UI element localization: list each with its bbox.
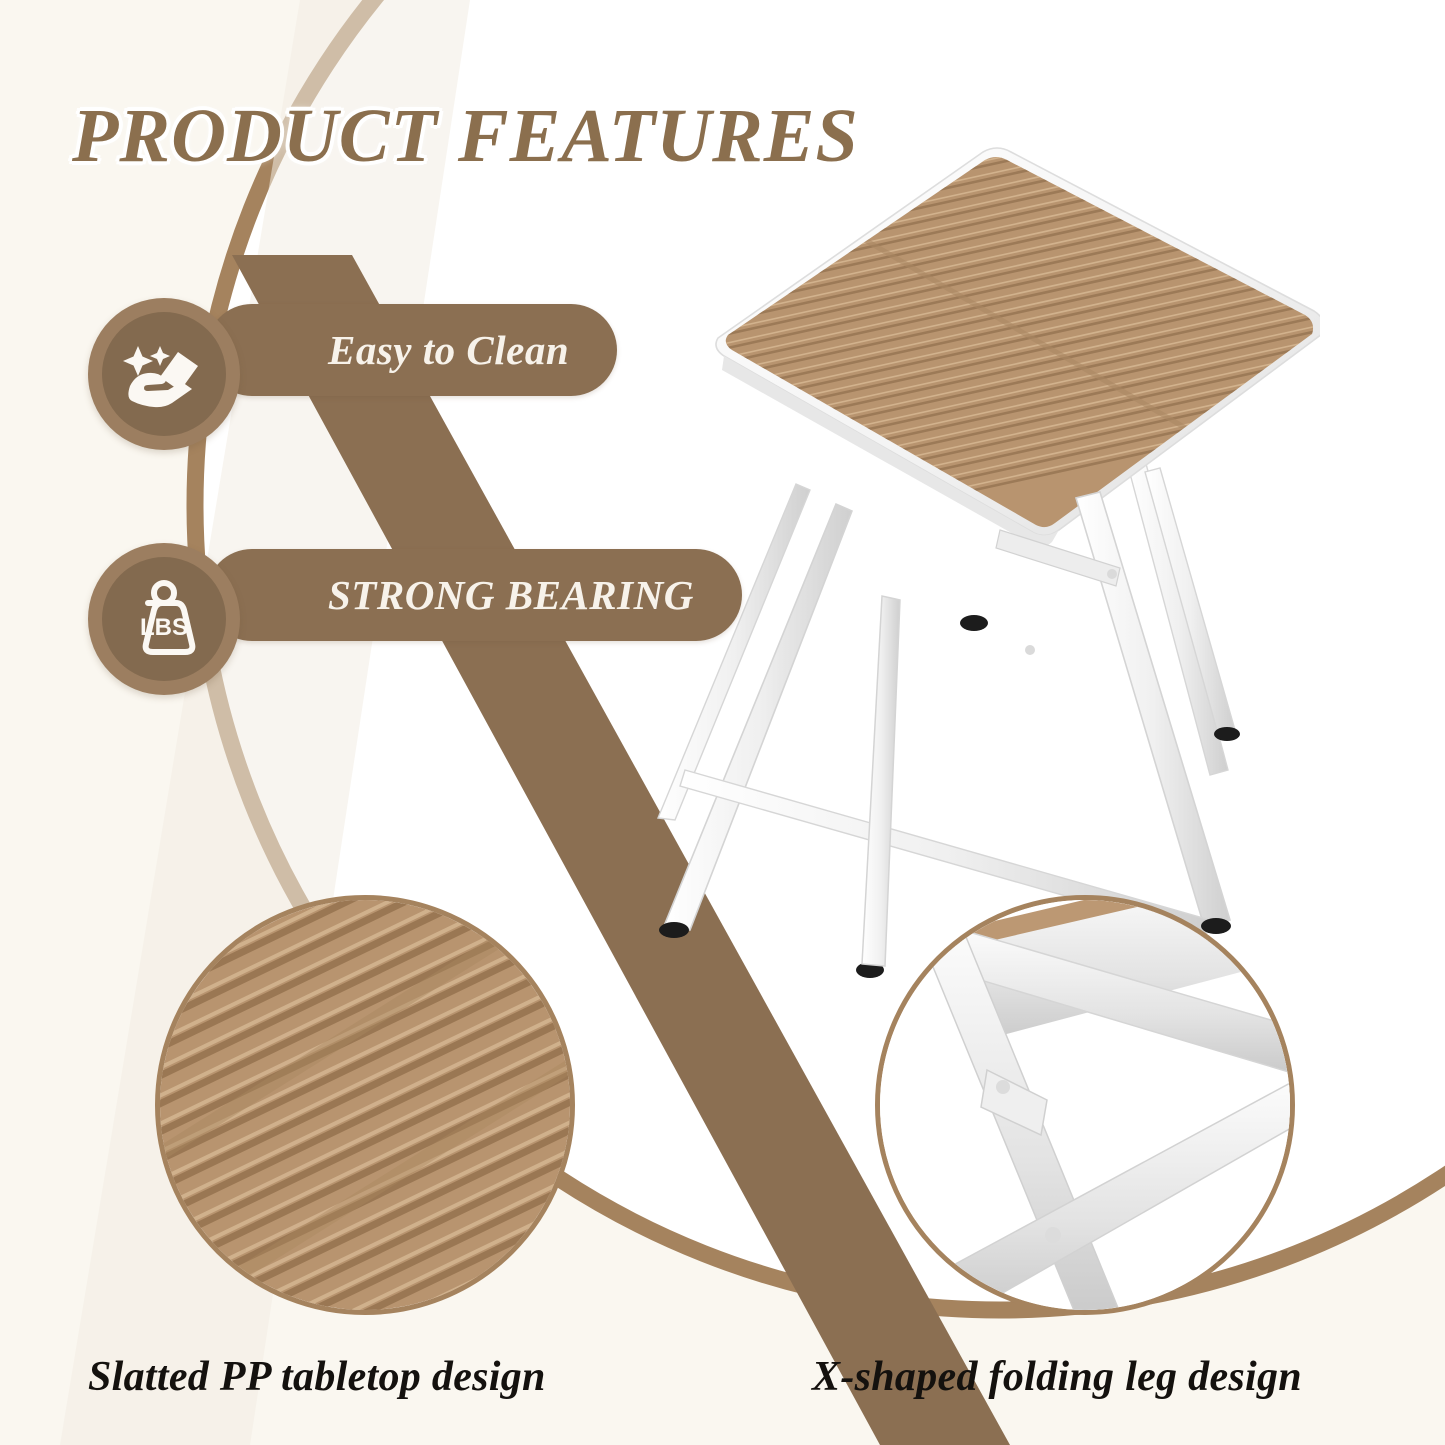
weight-lbs-icon: LBS: [118, 573, 210, 665]
foot-cap: [1214, 727, 1240, 741]
detail-circle-slatted-tabletop: [155, 895, 575, 1315]
caption-slatted-tabletop: Slatted PP tabletop design: [88, 1353, 546, 1401]
feature-pill: STRONG BEARING: [206, 549, 742, 641]
feature-icon-ring: [88, 298, 240, 450]
tabletop-slats: [700, 130, 1320, 550]
foot-cap: [659, 922, 689, 938]
hand-with-cleaning-cloth-icon: [118, 328, 210, 420]
feature-pill: Easy to Clean: [206, 304, 617, 396]
infographic-canvas: PRODUCT FEATURES: [0, 0, 1445, 1445]
weight-unit-label: LBS: [140, 614, 188, 641]
foot-cap: [960, 615, 988, 631]
feature-icon-ring: LBS: [88, 543, 240, 695]
caption-x-folding-leg: X-shaped folding leg design: [812, 1353, 1302, 1401]
detail-circle-x-folding-leg: [875, 895, 1295, 1315]
feature-label: STRONG BEARING: [206, 571, 742, 619]
feature-label: Easy to Clean: [206, 326, 617, 374]
